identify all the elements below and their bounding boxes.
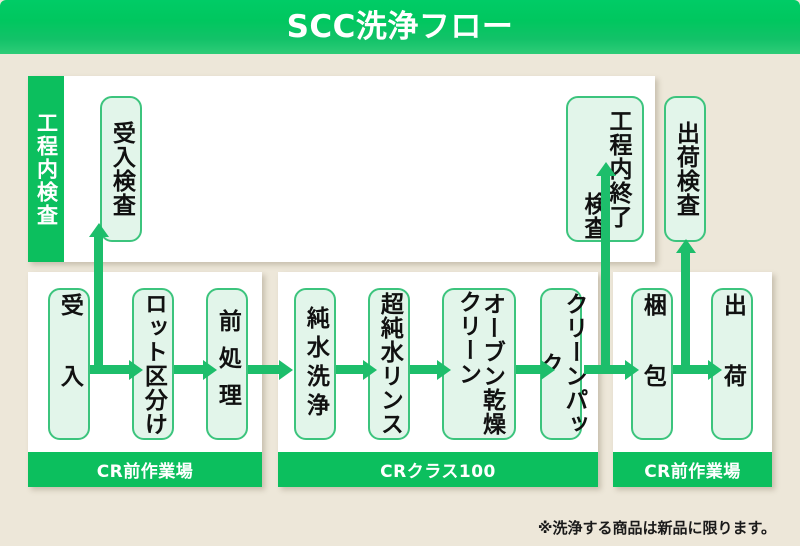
step-box-lot-sorting-label: ロット区分け [141, 292, 166, 436]
page-title-bar: SCC洗浄フロー [0, 0, 800, 54]
step-box-clean-oven-dry-label-col1: オーブン乾燥 [480, 292, 503, 436]
step-box-pretreatment-label: 前処理 [215, 309, 240, 420]
step-box-receiving-label: 受入 [57, 293, 82, 435]
step-box-pure-water-wash-label: 純水洗浄 [303, 306, 328, 422]
arrow-branch-to-process-end-inspection [601, 175, 610, 369]
inspection-box-receiving-label: 受入検査 [109, 121, 134, 217]
step-box-pure-water-wash[interactable]: 純水洗浄 [294, 288, 336, 440]
inspection-box-shipping-label: 出荷検査 [673, 121, 698, 217]
group-panel-pre-cr-1: 受入 ロット区分け 前処理 CR前作業場 [28, 272, 262, 487]
step-box-shipping-label: 出荷 [720, 293, 745, 435]
arrow-lot-sorting-to-pretreatment [174, 365, 204, 374]
step-box-ultrapure-rinse-label: 超純水リンス [377, 292, 402, 436]
inspection-band-label-text: 工程内検査 [36, 112, 57, 227]
group-footer-cr-class-100: CRクラス100 [278, 452, 598, 487]
scc-cleaning-flow-diagram: { "title": "SCC洗浄フロー", "inspection_band"… [0, 0, 800, 546]
arrow-pure-water-wash-to-ultrapure-rinse [336, 365, 364, 374]
step-box-clean-oven-dry[interactable]: クリーン オーブン乾燥 [442, 288, 516, 440]
arrow-branch-to-shipping-inspection [681, 252, 690, 369]
arrow-ultrapure-rinse-to-clean-oven-dry [410, 365, 438, 374]
footnote: ※洗浄する商品は新品に限ります。 [538, 517, 776, 538]
inspection-panel: 工程内検査 受入検査 検査 工程内終了 [28, 76, 655, 262]
arrow-packing-to-shipping [673, 365, 709, 374]
group-panel-pre-cr-2: 梱包 出荷 CR前作業場 [613, 272, 772, 487]
page-title: SCC洗浄フロー [287, 12, 514, 43]
inspection-box-shipping[interactable]: 出荷検査 [664, 96, 706, 242]
inspection-band-label: 工程内検査 [28, 76, 64, 262]
arrow-clean-oven-dry-to-clean-pack [516, 365, 542, 374]
arrow-pretreatment-to-pure-water-wash [248, 365, 280, 374]
group-footer-pre-cr-2: CR前作業場 [613, 452, 772, 487]
group-panel-cr-class-100: 純水洗浄 超純水リンス クリーン オーブン乾燥 クリーンパック CRクラス100 [278, 272, 598, 487]
step-box-packing-label: 梱包 [640, 293, 665, 435]
step-box-clean-oven-dry-label-col2: クリーン [456, 290, 479, 386]
step-box-receiving[interactable]: 受入 [48, 288, 90, 440]
group-footer-pre-cr-1: CR前作業場 [28, 452, 262, 487]
inspection-box-receiving[interactable]: 受入検査 [100, 96, 142, 242]
arrow-branch-to-receiving-inspection [94, 236, 103, 369]
